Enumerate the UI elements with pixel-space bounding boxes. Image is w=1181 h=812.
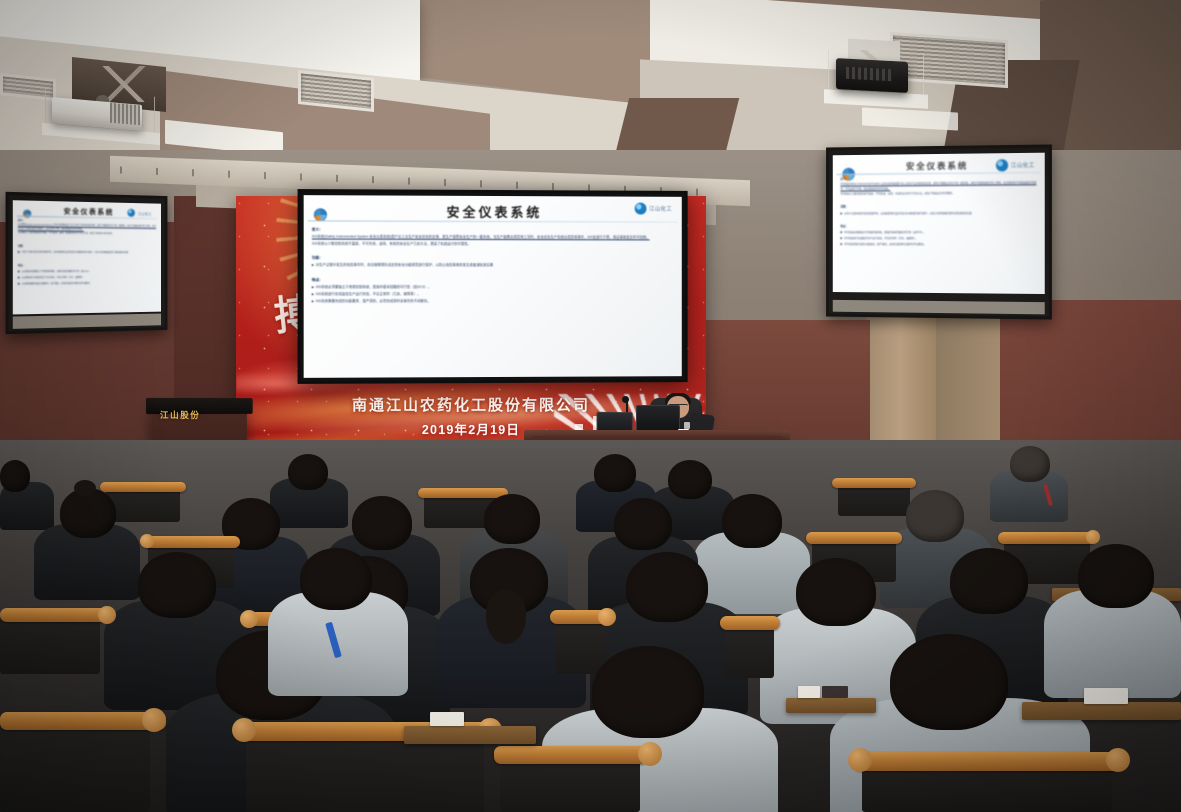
- slide-content: 安全仪表系统 江山化工 定义： SIS系统(Safety Instrumente…: [833, 153, 1045, 294]
- brand-logo-text: 江山化工: [649, 205, 672, 213]
- slide-title: 安全仪表系统: [906, 160, 968, 173]
- slide-section-heading: 特点：: [840, 225, 848, 228]
- slide-section-heading: 功能：: [18, 245, 25, 247]
- slide-section-heading: 定义：: [312, 227, 323, 231]
- conference-hall-photo: 搏 程 南通江山农药化工股份有限公司 2019年2月19日: [0, 0, 1181, 812]
- main-projection-screen[interactable]: 安全仪表系统 江山化工 定义： SIS系统(Safety Instrumente…: [298, 189, 688, 384]
- monitor-bezel-foot: [833, 300, 1045, 314]
- brand-logo: 江山化工: [128, 209, 152, 217]
- slide-section-heading: 特点：: [312, 278, 323, 282]
- projector-vent-grill: [846, 67, 892, 81]
- presenter-arm: [689, 412, 715, 431]
- slide-section-heading: 定义：: [840, 178, 848, 181]
- slide-section-heading: 特点：: [18, 265, 25, 267]
- microphone-icon: [622, 396, 629, 403]
- side-monitor-left[interactable]: 安全仪表系统 江山化工 定义： SIS系统(Safety Instrumente…: [6, 192, 168, 334]
- desk-surface: [404, 726, 536, 744]
- slide-body: 定义： SIS系统(Safety Instrumented System 安全仪…: [18, 219, 156, 308]
- side-monitor-right[interactable]: 安全仪表系统 江山化工 定义： SIS系统(Safety Instrumente…: [826, 144, 1052, 319]
- brand-logo: 江山化工: [996, 159, 1035, 172]
- monitor-bezel-foot: [13, 314, 161, 329]
- brand-logo: 江山化工: [634, 203, 672, 215]
- paper: [430, 712, 464, 726]
- slide-line: 对生产过程中发生的危险事件时，自动按照预先设定的安全功能规范进行保护，以防止危险…: [312, 262, 674, 269]
- desk-surface: [1022, 702, 1181, 720]
- monitor-screen: 安全仪表系统 江山化工 定义： SIS系统(Safety Instrumente…: [13, 200, 161, 314]
- brand-logo-icon: [128, 209, 136, 217]
- paper: [798, 686, 820, 698]
- slide-title: 安全仪表系统: [446, 202, 542, 221]
- brand-logo-icon: [634, 203, 646, 215]
- presenter-badge: [684, 422, 690, 429]
- slide-content: 安全仪表系统 江山化工 定义： SIS系统(Safety Instrumente…: [304, 195, 682, 378]
- audience-area: [0, 440, 1181, 812]
- slide-body: 定义： SIS系统(Safety Instrumented System 安全仪…: [312, 226, 674, 371]
- slide-line: SIS系统需要完成的功能要求，是严谨的，必须完成到时全事件的不间断化。: [840, 241, 1036, 247]
- slide-content: 安全仪表系统 江山化工 定义： SIS系统(Safety Instrumente…: [13, 200, 161, 314]
- projection-surface: 安全仪表系统 江山化工 定义： SIS系统(Safety Instrumente…: [304, 195, 682, 378]
- paper: [1084, 688, 1128, 704]
- podium-sign-text: 江山股份: [160, 409, 200, 421]
- slide-line: SIS系统需要完成的功能要求，是严谨的，必须完成到时全事件的不间断化。: [312, 298, 674, 305]
- monitor-screen: 安全仪表系统 江山化工 定义： SIS系统(Safety Instrumente…: [833, 153, 1045, 294]
- slide-line: SIS系统需要完成的功能要求，是严谨的，必须完成到时全事件的不间断化。: [18, 280, 156, 287]
- slide-section-heading: 功能：: [312, 256, 323, 260]
- slide-body: 定义： SIS系统(Safety Instrumented System 安全仪…: [840, 175, 1036, 288]
- brand-logo-text: 江山化工: [1011, 161, 1035, 169]
- projector-vent-grill: [110, 103, 140, 126]
- slide-section-heading: 功能：: [840, 206, 848, 209]
- brand-logo-text: 江山化工: [138, 211, 152, 216]
- brand-logo-icon: [996, 159, 1008, 171]
- notebook: [822, 686, 848, 698]
- slide-section-heading: 定义：: [18, 220, 25, 222]
- desk-surface: [786, 698, 876, 713]
